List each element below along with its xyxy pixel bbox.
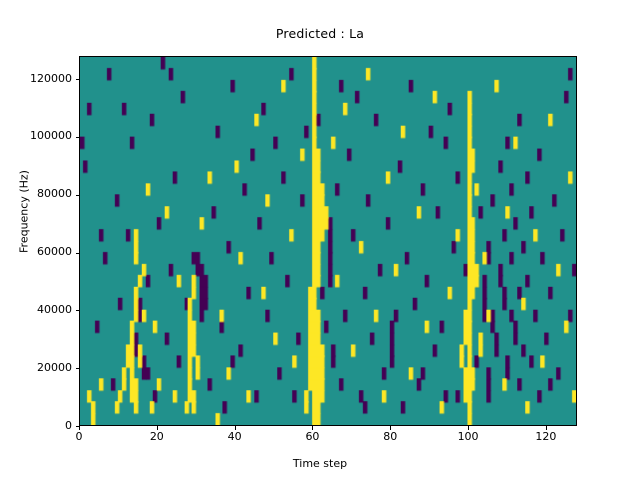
x-tick-label: 40: [210, 430, 260, 443]
x-tick-label: 20: [132, 430, 182, 443]
heatmap-canvas: [80, 57, 576, 425]
y-tick-mark: [76, 195, 80, 196]
x-axis-label: Time step: [0, 457, 640, 470]
x-tick-mark: [235, 426, 236, 430]
heatmap-axes: [79, 56, 577, 426]
y-axis-label: Frequency (Hz): [18, 22, 31, 402]
x-tick-mark: [79, 426, 80, 430]
x-tick-mark: [157, 426, 158, 430]
x-tick-label: 120: [521, 430, 571, 443]
x-tick-mark: [312, 426, 313, 430]
y-tick-mark: [76, 368, 80, 369]
x-tick-mark: [468, 426, 469, 430]
y-tick-mark: [76, 137, 80, 138]
x-tick-mark: [390, 426, 391, 430]
x-tick-mark: [546, 426, 547, 430]
y-tick-mark: [76, 310, 80, 311]
y-tick-mark: [76, 253, 80, 254]
x-tick-label: 60: [287, 430, 337, 443]
x-tick-label: 0: [54, 430, 104, 443]
x-tick-label: 80: [365, 430, 415, 443]
chart-title: Predicted : La: [0, 26, 640, 41]
y-tick-mark: [76, 79, 80, 80]
x-tick-label: 100: [443, 430, 493, 443]
matplotlib-figure: Predicted : La 0200004000060000800001000…: [0, 0, 640, 480]
